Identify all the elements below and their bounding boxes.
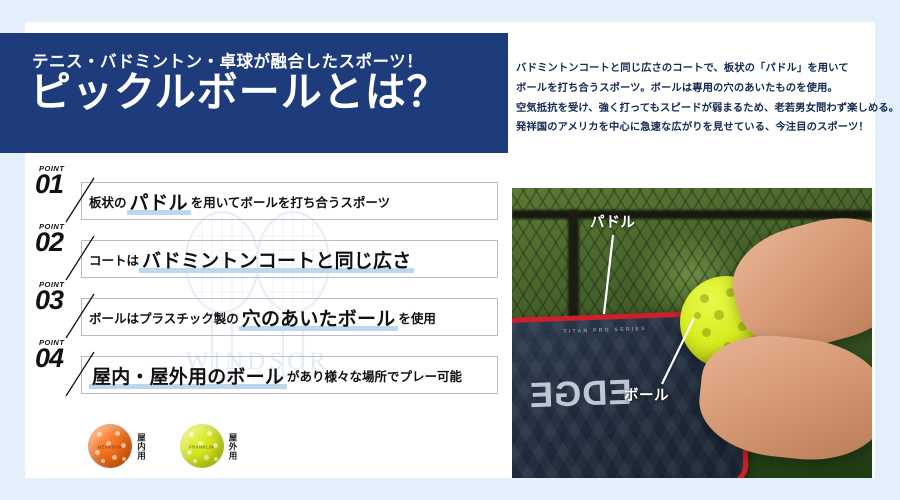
points-list: POINT01板状のパドルを用いてボールを打ち合うスポーツPOINT02コートは… <box>25 168 500 400</box>
legend-label: 屋内用 <box>136 433 146 460</box>
point-plain-text: を用いてボールを打ち合うスポーツ <box>191 192 390 211</box>
ball-hole <box>101 459 105 463</box>
legend-label: 屋外用 <box>228 433 238 460</box>
ball-hole <box>95 450 100 455</box>
page-title: ピックルボールとは？ <box>30 71 449 114</box>
ball-indoor-icon: GEARBOX <box>88 424 132 468</box>
point-row: POINT01板状のパドルを用いてボールを打ち合うスポーツ <box>25 168 500 226</box>
description-line: 空気抵抗を受け、強く打ってもスピードが弱まるため、老若男女問わず楽しめる。 <box>516 99 886 119</box>
header-band: テニス・バドミントン・卓球が融合したスポーツ！ ピックルボールとは？ <box>0 33 508 153</box>
point-text: ボールはプラスチック製の穴のあいたボールを使用 <box>89 298 494 336</box>
ball-callout-label: ボール <box>624 384 669 405</box>
point-text: 板状のパドルを用いてボールを打ち合うスポーツ <box>89 182 494 220</box>
description-line: 発祥国のアメリカを中心に急速な広がりを見せている、今注目のスポーツ！ <box>516 118 886 138</box>
ball-hole <box>187 450 192 455</box>
point-text: 屋内・屋外用のボールがあり様々な場所でプレー可能 <box>89 356 494 394</box>
ball-legend: GEARBOX屋内用FRANKLIN屋外用 <box>88 424 237 468</box>
pickleball-photo: TITAN PRO SERIES EDGE EX パドル ボール <box>512 188 872 478</box>
description-line: バドミントンコートと同じ広さのコートで、板状の「パドル」を用いて <box>516 59 886 79</box>
description-line: ボールを打ち合うスポーツ。ボールは専用の穴のあいたものを使用。 <box>516 79 886 99</box>
ball-hole <box>207 431 212 436</box>
point-highlight-text: 屋内・屋外用のボール <box>89 362 287 389</box>
point-highlight-text: パドル <box>127 188 191 215</box>
ball-outdoor-icon: FRANKLIN <box>180 424 224 468</box>
ball-hole <box>204 455 209 460</box>
ball-hole <box>115 431 120 436</box>
infographic-root: WINDSOR RACKET SPORTS テニス・バドミントン・卓球が融合した… <box>0 0 900 500</box>
legend-item: FRANKLIN屋外用 <box>180 424 238 468</box>
point-row: POINT04屋内・屋外用のボールがあり様々な場所でプレー可能 <box>25 342 500 400</box>
point-highlight-text: バドミントンコートと同じ広さ <box>139 246 414 273</box>
ball-hole <box>193 459 197 463</box>
paddle-callout-label: パドル <box>590 211 635 232</box>
ball-hole <box>122 457 126 461</box>
point-plain-text: を使用 <box>398 308 436 327</box>
point-plain-text: があり様々な場所でプレー可能 <box>287 366 462 385</box>
point-plain-text: ボールはプラスチック製の <box>89 308 239 327</box>
ball-hole <box>189 432 194 437</box>
legend-item: GEARBOX屋内用 <box>88 424 146 468</box>
header-description: バドミントンコートと同じ広さのコートで、板状の「パドル」を用いて ボールを打ち合… <box>516 59 886 138</box>
ball-brand-text: FRANKLIN <box>189 444 214 449</box>
ball-hole <box>112 455 117 460</box>
ball-hole <box>97 432 102 437</box>
point-highlight-text: 穴のあいたボール <box>239 304 399 331</box>
ball-brand-text: GEARBOX <box>98 444 122 449</box>
callout-lines <box>512 188 872 478</box>
point-text: コートはバドミントンコートと同じ広さ <box>89 240 494 278</box>
point-plain-text: 板状の <box>89 192 127 211</box>
point-plain-text: コートは <box>89 250 139 269</box>
ball-hole <box>214 457 218 461</box>
point-row: POINT02コートはバドミントンコートと同じ広さ <box>25 226 500 284</box>
point-row: POINT03ボールはプラスチック製の穴のあいたボールを使用 <box>25 284 500 342</box>
